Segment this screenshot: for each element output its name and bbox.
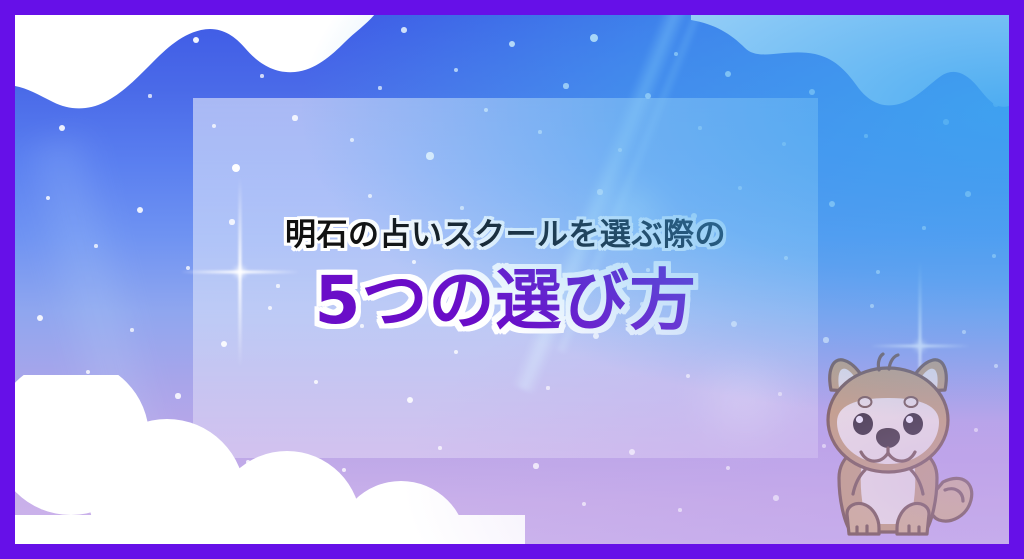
star-dot-icon — [753, 33, 758, 38]
star-dot-icon — [965, 191, 971, 197]
star-dot-icon — [922, 226, 926, 230]
banner-subheadline: 明石の占いスクールを選ぶ際の — [285, 216, 726, 255]
banner-headline: 5つの選び方 — [315, 261, 697, 340]
star-dot-icon — [454, 68, 458, 72]
star-dot-icon — [563, 83, 568, 88]
star-dot-icon — [678, 508, 682, 512]
star-dot-icon — [175, 393, 180, 398]
star-dot-icon — [246, 460, 251, 465]
star-dot-icon — [186, 266, 190, 270]
star-dot-icon — [108, 64, 112, 68]
star-dot-icon — [823, 337, 828, 342]
star-dot-icon — [918, 32, 922, 36]
artwork-area: 明石の占いスクールを選ぶ際の 5つの選び方 .fur{fill:#c9a063}… — [15, 15, 1009, 544]
star-dot-icon — [94, 244, 98, 248]
star-dot-icon — [962, 330, 966, 334]
star-dot-icon — [342, 468, 346, 472]
star-dot-icon — [37, 315, 43, 321]
star-dot-icon — [53, 441, 58, 446]
star-dot-icon — [86, 370, 90, 374]
star-dot-icon — [148, 94, 151, 97]
star-dot-icon — [46, 196, 51, 201]
star-dot-icon — [193, 37, 200, 44]
star-dot-icon — [726, 466, 731, 471]
star-dot-icon — [590, 34, 598, 42]
star-dot-icon — [876, 270, 880, 274]
star-dot-icon — [315, 49, 321, 55]
star-dot-icon — [147, 449, 153, 455]
star-dot-icon — [198, 500, 202, 504]
star-dot-icon — [994, 364, 999, 369]
star-dot-icon — [59, 125, 65, 131]
star-dot-icon — [829, 201, 835, 207]
star-dot-icon — [970, 64, 974, 68]
star-dot-icon — [838, 46, 843, 51]
star-dot-icon — [509, 41, 515, 47]
star-dot-icon — [889, 77, 895, 83]
star-dot-icon — [582, 502, 586, 506]
star-dot-icon — [137, 207, 143, 213]
star-dot-icon — [864, 134, 868, 138]
star-dot-icon — [773, 495, 779, 501]
star-dot-icon — [130, 328, 134, 332]
star-dot-icon — [674, 52, 678, 56]
star-dot-icon — [293, 509, 299, 515]
star-dot-icon — [993, 101, 999, 107]
text-block: 明石の占いスクールを選ぶ際の 5つの選び方 — [193, 98, 818, 458]
star-dot-icon — [378, 86, 381, 89]
banner-canvas: 明石の占いスクールを選ぶ際の 5つの選び方 .fur{fill:#c9a063}… — [0, 0, 1024, 559]
star-dot-icon — [870, 304, 874, 308]
star-dot-icon — [943, 119, 949, 125]
light-ray-icon — [15, 129, 178, 471]
star-dot-icon — [533, 463, 538, 468]
star-dot-icon — [725, 71, 732, 78]
star-dot-icon — [389, 493, 395, 499]
star-dot-icon — [401, 27, 407, 33]
star-dot-icon — [486, 516, 490, 520]
shiba-inu-dog-icon: .fur{fill:#c9a063} .furL{fill:#d9b57c} .… — [793, 344, 983, 544]
star-dot-icon — [260, 74, 264, 78]
star-dot-icon — [992, 254, 996, 258]
star-dot-icon — [809, 89, 815, 95]
star-dot-icon — [102, 484, 106, 488]
